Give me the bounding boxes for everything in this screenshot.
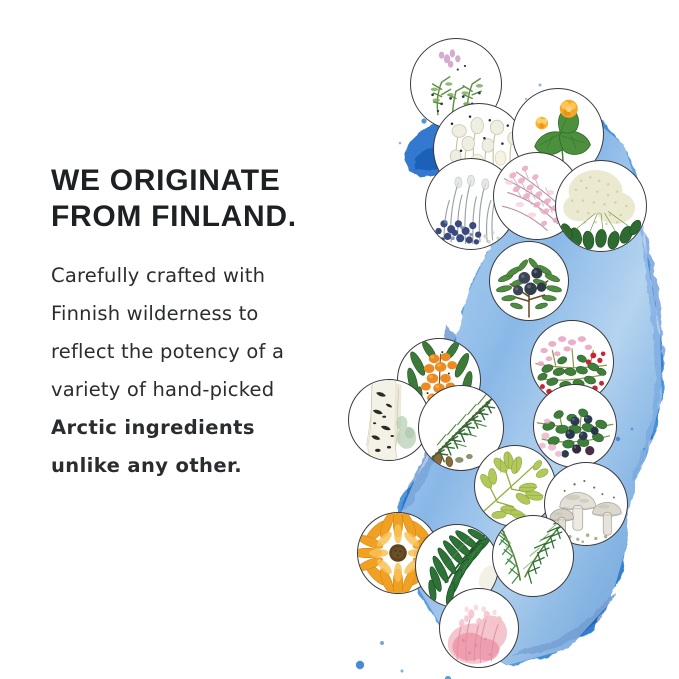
- page-title: WE ORIGINATE FROM FINLAND.: [51, 163, 351, 235]
- juniper-berries-icon: [490, 242, 568, 320]
- text-block: WE ORIGINATE FROM FINLAND. Carefully cra…: [51, 163, 351, 485]
- circle-bilberry: [533, 384, 617, 468]
- body-line-1: Carefully crafted with: [51, 257, 351, 295]
- cloudberry-leaf-icon: [475, 446, 555, 526]
- pink-heather-icon: [440, 589, 518, 667]
- body-line-3: reflect the potency of a: [51, 333, 351, 371]
- circle-juniper: [489, 241, 569, 321]
- circle-pine-needles: [492, 515, 574, 597]
- body-line-6: unlike any other.: [51, 447, 351, 485]
- birch-bark-icon: [349, 380, 429, 460]
- meadowsweet-icon: [556, 161, 646, 251]
- pine-needles-icon: [493, 516, 573, 596]
- body-line-2: Finnish wilderness to: [51, 295, 351, 333]
- body-line-5: Arctic ingredients: [51, 409, 351, 447]
- circle-cloudberry-leaf: [474, 445, 556, 527]
- circle-meadowsweet: [555, 160, 647, 252]
- poster-root: WE ORIGINATE FROM FINLAND. Carefully cra…: [0, 0, 679, 679]
- circle-pink-heather: [439, 588, 519, 668]
- bilberry-sprig-icon: [534, 385, 616, 467]
- body-line-4: variety of hand-picked: [51, 371, 351, 409]
- body-copy: Carefully crafted with Finnish wildernes…: [51, 257, 351, 485]
- map-area: [330, 25, 679, 679]
